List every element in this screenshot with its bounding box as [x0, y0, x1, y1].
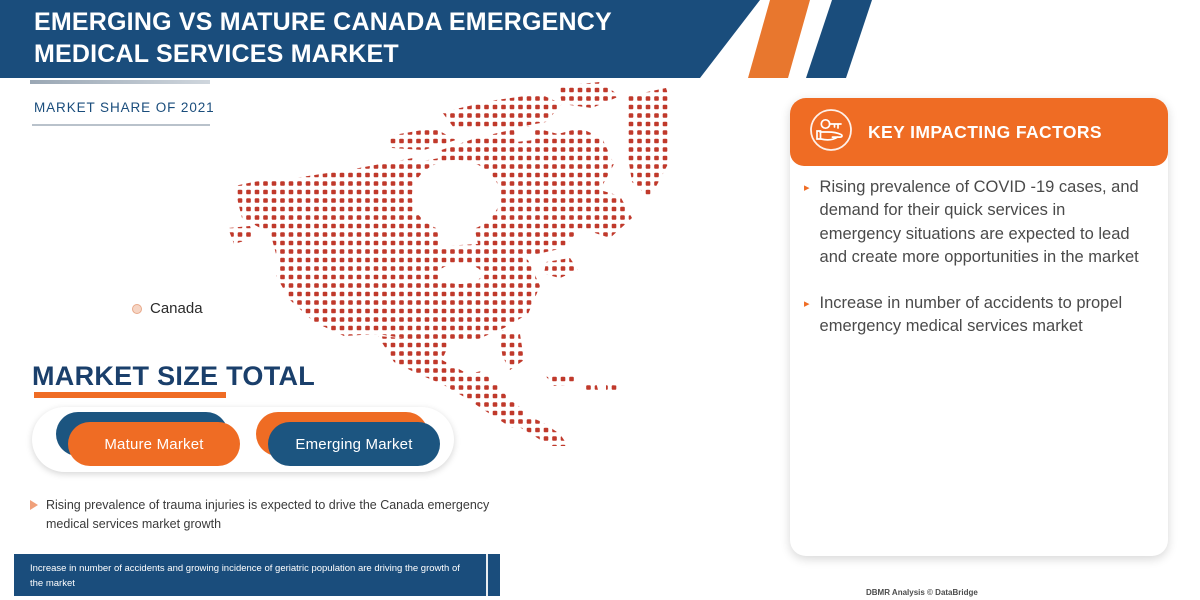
footer-bar: Increase in number of accidents and grow… [14, 554, 500, 596]
infographic-page: EMERGING VS MATURE CANADA EMERGENCY MEDI… [0, 0, 1200, 600]
panel-header: KEY IMPACTING FACTORS [790, 98, 1168, 166]
page-title: EMERGING VS MATURE CANADA EMERGENCY MEDI… [34, 6, 694, 70]
arrow-bullet-icon: ▸ [804, 183, 810, 270]
list-item: ▸ Increase in number of accidents to pro… [804, 292, 1150, 339]
header-stripe-orange [748, 0, 810, 78]
pill-emerging-market[interactable]: Emerging Market [262, 418, 434, 462]
market-size-total-title: MARKET SIZE TOTAL [32, 361, 315, 392]
footer-divider [486, 554, 488, 596]
pill-emerging-label[interactable]: Emerging Market [268, 422, 440, 466]
list-item: ▸ Rising prevalence of COVID -19 cases, … [804, 176, 1150, 270]
circle-marker-icon [132, 304, 142, 314]
north-america-dot-map [228, 78, 668, 448]
header-underline [30, 80, 210, 84]
hand-holding-key-icon [808, 107, 854, 158]
arrow-bullet-icon: ▸ [804, 299, 810, 339]
panel-title: KEY IMPACTING FACTORS [868, 122, 1102, 143]
left-bullet-text: Rising prevalence of trauma injuries is … [46, 496, 490, 534]
market-size-total-rule [34, 392, 226, 398]
key-factor-text: Increase in number of accidents to prope… [820, 292, 1150, 339]
header-stripe-blue [806, 0, 872, 78]
source-credit: DBMR Analysis © DataBridge [866, 588, 1106, 597]
triangle-bullet-icon [30, 500, 38, 510]
map-legend: Canada [132, 300, 203, 317]
pill-mature-market[interactable]: Mature Market [62, 418, 234, 462]
legend-label: Canada [150, 300, 203, 317]
key-impacting-factors-panel: KEY IMPACTING FACTORS ▸ Rising prevalenc… [790, 98, 1168, 556]
market-share-label: MARKET SHARE OF 2021 [34, 100, 215, 122]
pill-mature-label[interactable]: Mature Market [68, 422, 240, 466]
left-bullet-item: Rising prevalence of trauma injuries is … [30, 496, 490, 534]
market-share-rule [32, 124, 210, 126]
panel-body: ▸ Rising prevalence of COVID -19 cases, … [790, 170, 1168, 361]
footer-text: Increase in number of accidents and grow… [30, 562, 470, 591]
key-factor-text: Rising prevalence of COVID -19 cases, an… [820, 176, 1150, 270]
